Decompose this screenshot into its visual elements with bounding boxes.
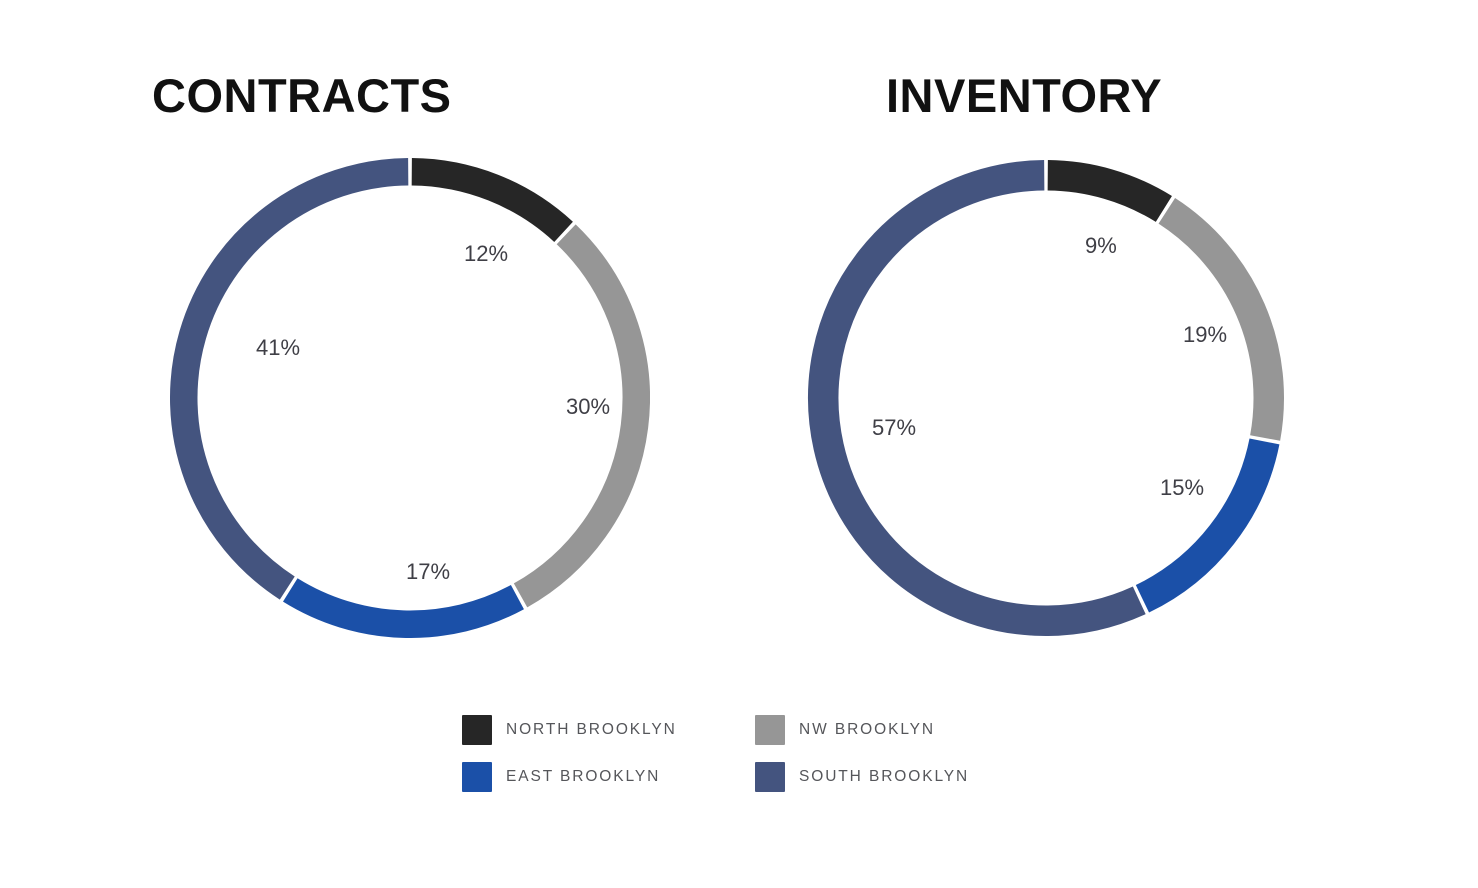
data-label-inventory-nw-brooklyn: 19% bbox=[1183, 324, 1227, 346]
chart-canvas: CONTRACTS INVENTORY 12% 30% 17% 41% 9% 1… bbox=[0, 0, 1478, 888]
data-label-inventory-east-brooklyn: 15% bbox=[1160, 477, 1204, 499]
legend-label-east-brooklyn: EAST BROOKLYN bbox=[506, 769, 660, 785]
data-label-contracts-south-brooklyn: 41% bbox=[256, 337, 300, 359]
data-label-contracts-north-brooklyn: 12% bbox=[464, 243, 508, 265]
legend-swatch-east-brooklyn bbox=[462, 762, 492, 792]
legend-label-nw-brooklyn: NW BROOKLYN bbox=[799, 722, 935, 738]
legend-item-nw-brooklyn: NW BROOKLYN bbox=[755, 715, 1022, 745]
donut-svg-inventory bbox=[806, 158, 1286, 638]
data-label-contracts-nw-brooklyn: 30% bbox=[566, 396, 610, 418]
donut-slice-north-brooklyn[interactable] bbox=[412, 172, 564, 232]
legend-swatch-south-brooklyn bbox=[755, 762, 785, 792]
donut-slice-north-brooklyn[interactable] bbox=[1048, 175, 1164, 209]
donut-slice-east-brooklyn[interactable] bbox=[1142, 441, 1264, 598]
data-label-contracts-east-brooklyn: 17% bbox=[406, 561, 450, 583]
donut-chart-inventory bbox=[806, 158, 1286, 638]
donut-slice-south-brooklyn[interactable] bbox=[184, 172, 408, 588]
legend-swatch-north-brooklyn bbox=[462, 715, 492, 745]
chart-legend: NORTH BROOKLYN NW BROOKLYN EAST BROOKLYN… bbox=[462, 706, 1022, 800]
donut-slice-east-brooklyn[interactable] bbox=[290, 590, 517, 624]
legend-item-east-brooklyn: EAST BROOKLYN bbox=[462, 762, 755, 792]
legend-item-south-brooklyn: SOUTH BROOKLYN bbox=[755, 762, 1022, 792]
legend-label-north-brooklyn: NORTH BROOKLYN bbox=[506, 722, 677, 738]
data-label-inventory-south-brooklyn: 57% bbox=[872, 417, 916, 439]
chart-title-contracts: CONTRACTS bbox=[152, 72, 452, 119]
chart-title-inventory: INVENTORY bbox=[886, 72, 1162, 119]
donut-arc-group-inventory bbox=[823, 175, 1269, 620]
legend-label-south-brooklyn: SOUTH BROOKLYN bbox=[799, 769, 969, 785]
legend-item-north-brooklyn: NORTH BROOKLYN bbox=[462, 715, 755, 745]
legend-swatch-nw-brooklyn bbox=[755, 715, 785, 745]
data-label-inventory-north-brooklyn: 9% bbox=[1085, 235, 1117, 257]
